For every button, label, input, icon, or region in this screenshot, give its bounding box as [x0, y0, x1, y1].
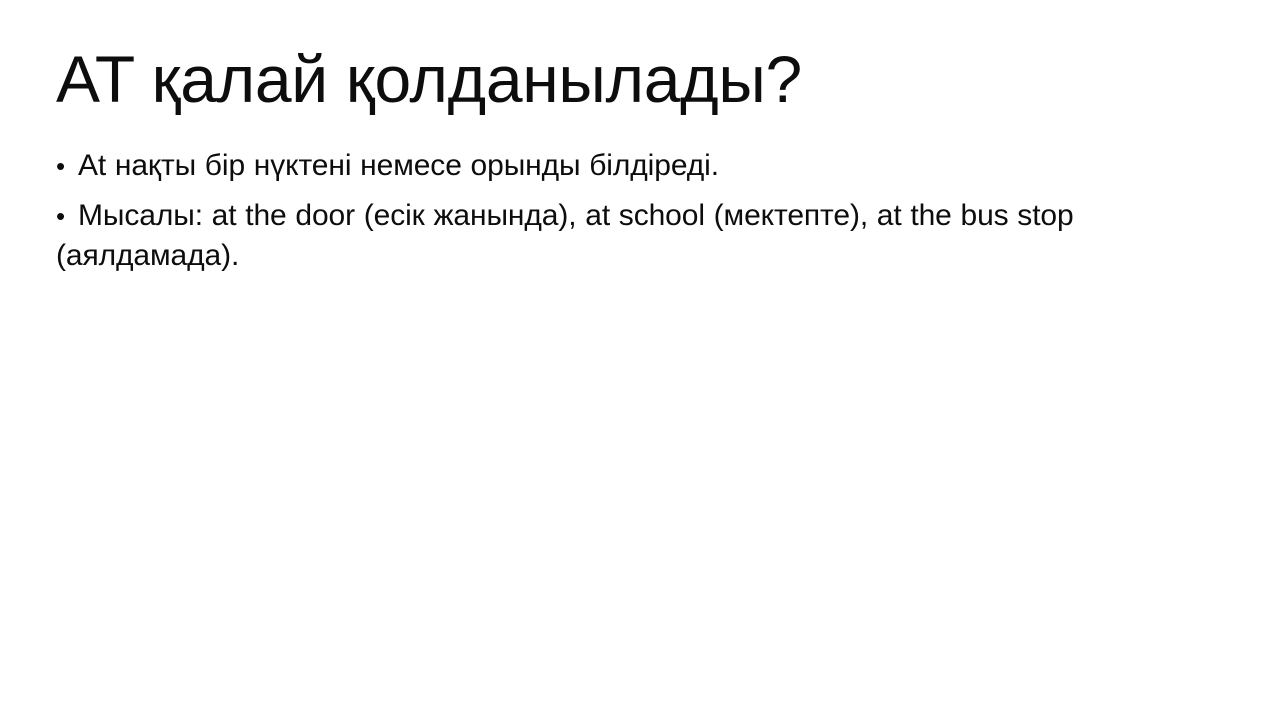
- bullet-point-icon: •: [56, 197, 78, 236]
- list-item-text: Мысалы: at the door (есік жанында), at s…: [56, 199, 1074, 272]
- list-item: •Мысалы: at the door (есік жанында), at …: [56, 196, 1224, 275]
- list-item: •At нақты бір нүктені немесе орынды білд…: [56, 146, 1224, 186]
- list-item-text: At нақты бір нүктені немесе орынды білді…: [78, 149, 719, 182]
- bullet-point-icon: •: [56, 147, 78, 186]
- bullet-list: •At нақты бір нүктені немесе орынды білд…: [56, 146, 1224, 275]
- slide-canvas: AT қалай қолданылады? •At нақты бір нүкт…: [0, 0, 1280, 720]
- page-title: AT қалай қолданылады?: [56, 46, 1226, 113]
